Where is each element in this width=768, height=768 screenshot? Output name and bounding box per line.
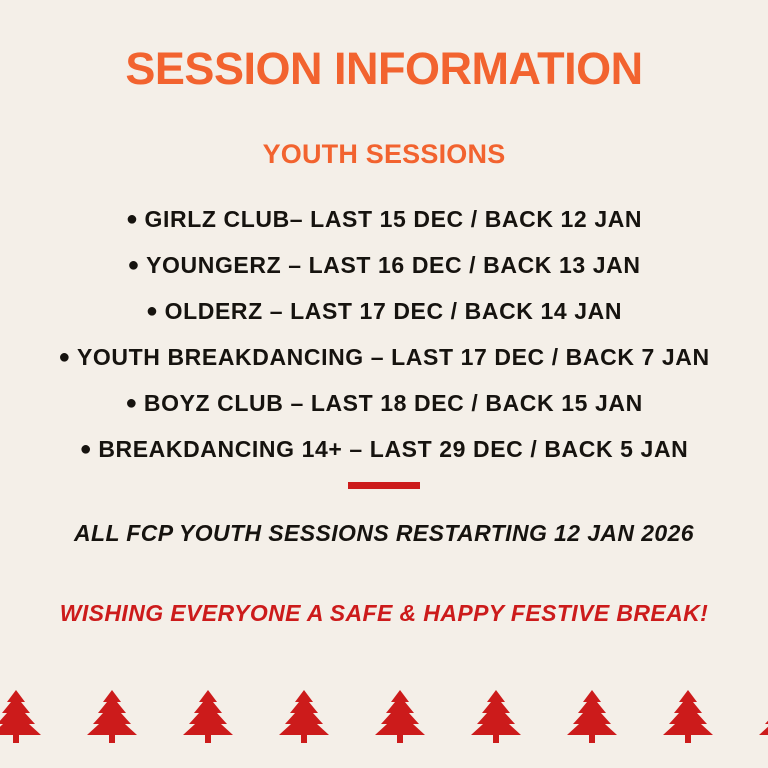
bullet-icon: ●	[127, 255, 140, 275]
divider-rule	[348, 482, 420, 489]
section-subtitle: YOUTH SESSIONS	[0, 140, 768, 170]
restart-note: ALL FCP YOUTH SESSIONS RESTARTING 12 JAN…	[0, 520, 768, 547]
christmas-tree-icon	[640, 688, 736, 745]
list-item: ●BOYZ CLUB – LAST 18 DEC / BACK 15 JAN	[0, 380, 768, 426]
session-information-poster: SESSION INFORMATION YOUTH SESSIONS ●GIRL…	[0, 0, 768, 768]
christmas-tree-icon	[352, 688, 448, 745]
list-item-label: BOYZ CLUB – LAST 18 DEC / BACK 15 JAN	[144, 390, 643, 416]
page-title: SESSION INFORMATION	[0, 44, 768, 94]
christmas-tree-icon	[64, 688, 160, 745]
christmas-tree-icon	[160, 688, 256, 745]
list-item-label: BREAKDANCING 14+ – LAST 29 DEC / BACK 5 …	[98, 436, 688, 462]
list-item: ●YOUNGERZ – LAST 16 DEC / BACK 13 JAN	[0, 242, 768, 288]
christmas-tree-icon	[448, 688, 544, 745]
christmas-tree-icon	[736, 688, 768, 745]
list-item: ●GIRLZ CLUB– LAST 15 DEC / BACK 12 JAN	[0, 196, 768, 242]
session-list: ●GIRLZ CLUB– LAST 15 DEC / BACK 12 JAN●Y…	[0, 196, 768, 472]
christmas-tree-border	[0, 688, 768, 768]
christmas-tree-icon	[256, 688, 352, 745]
bullet-icon: ●	[146, 301, 159, 321]
list-item: ●BREAKDANCING 14+ – LAST 29 DEC / BACK 5…	[0, 426, 768, 472]
wishing-note: WISHING EVERYONE A SAFE & HAPPY FESTIVE …	[0, 600, 768, 627]
bullet-icon: ●	[126, 209, 139, 229]
bullet-icon: ●	[125, 393, 138, 413]
list-item-label: GIRLZ CLUB– LAST 15 DEC / BACK 12 JAN	[145, 206, 643, 232]
christmas-tree-icon	[0, 688, 64, 745]
list-item-label: YOUTH BREAKDANCING – LAST 17 DEC / BACK …	[77, 344, 710, 370]
bullet-icon: ●	[58, 347, 71, 367]
list-item: ●OLDERZ – LAST 17 DEC / BACK 14 JAN	[0, 288, 768, 334]
list-item-label: OLDERZ – LAST 17 DEC / BACK 14 JAN	[165, 298, 622, 324]
list-item: ●YOUTH BREAKDANCING – LAST 17 DEC / BACK…	[0, 334, 768, 380]
bullet-icon: ●	[80, 439, 93, 459]
list-item-label: YOUNGERZ – LAST 16 DEC / BACK 13 JAN	[146, 252, 640, 278]
christmas-tree-icon	[544, 688, 640, 745]
